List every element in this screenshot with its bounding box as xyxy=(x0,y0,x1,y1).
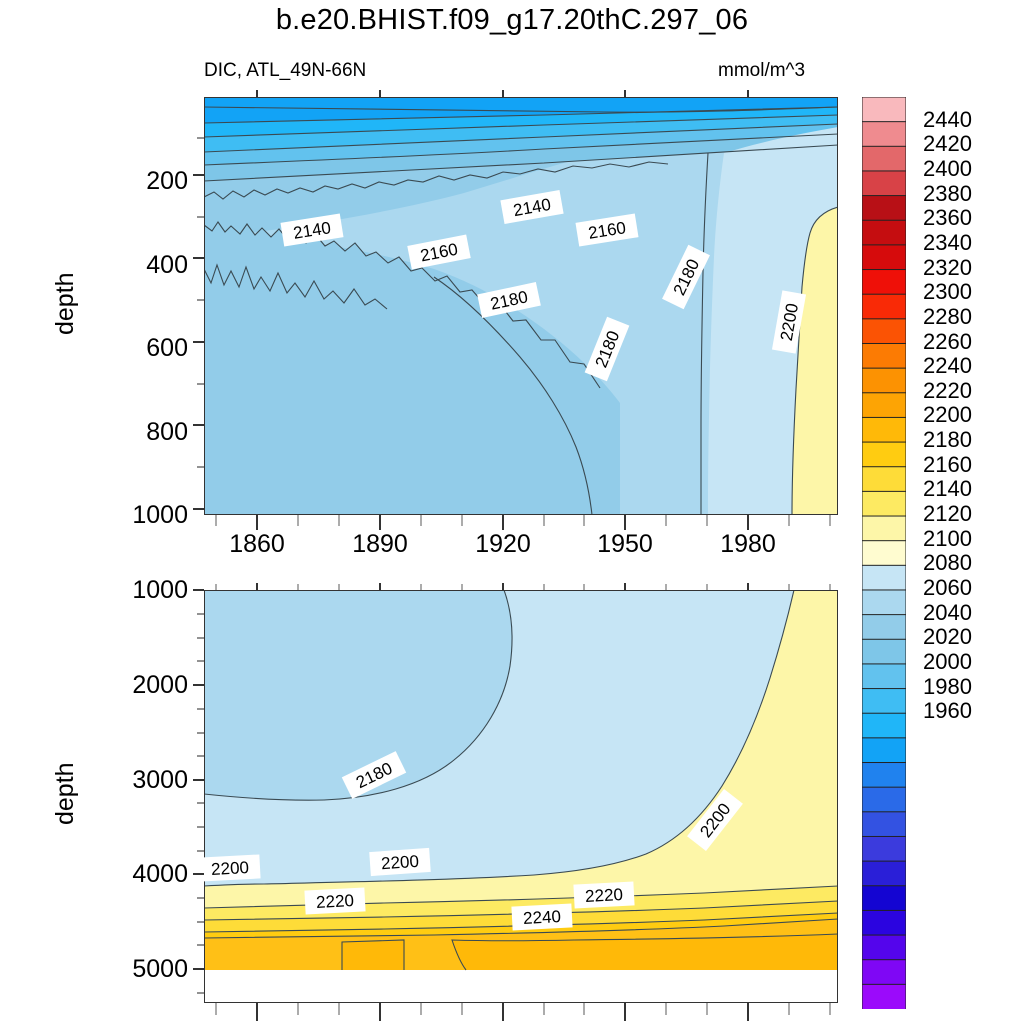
upper-xtick-1890: 1890 xyxy=(335,530,425,559)
colorbar-swatch[interactable] xyxy=(862,368,906,393)
colorbar-tick-2380: 2380 xyxy=(923,181,972,207)
colorbar-tick-2440: 2440 xyxy=(923,107,972,133)
colorbar-swatch[interactable] xyxy=(862,294,906,319)
colorbar-tick-2180: 2180 xyxy=(923,427,972,453)
colorbar-tick-2000: 2000 xyxy=(923,649,972,675)
colorbar-swatch[interactable] xyxy=(862,97,906,122)
colorbar-swatch[interactable] xyxy=(862,467,906,492)
upper-xtick-1950: 1950 xyxy=(580,530,670,559)
lower-ytick-4000: 4000 xyxy=(90,860,188,889)
colorbar-swatch[interactable] xyxy=(862,146,906,171)
colorbar-tick-2420: 2420 xyxy=(923,131,972,157)
colorbar-labels: 2440242024002380236023402320230022802260… xyxy=(915,97,1015,1009)
upper-xtick-1860: 1860 xyxy=(212,530,302,559)
colorbar-swatch[interactable] xyxy=(862,516,906,541)
upper-ytick-1000: 1000 xyxy=(90,501,188,530)
colorbar-tick-2360: 2360 xyxy=(923,205,972,231)
colorbar-swatch[interactable] xyxy=(862,836,906,861)
upper-ytick-400: 400 xyxy=(110,251,188,280)
upper-ytick-600: 600 xyxy=(110,334,188,363)
lower-panel-ticks xyxy=(180,583,860,1023)
colorbar-swatch[interactable] xyxy=(862,787,906,812)
lower-panel-ylabel: depth xyxy=(35,765,95,825)
colorbar-swatch[interactable] xyxy=(862,565,906,590)
colorbar-swatch[interactable] xyxy=(862,491,906,516)
colorbar-swatch[interactable] xyxy=(862,935,906,960)
colorbar-tick-1980: 1980 xyxy=(923,674,972,700)
colorbar-swatch[interactable] xyxy=(862,442,906,467)
colorbar-tick-1960: 1960 xyxy=(923,698,972,724)
colorbar-tick-2080: 2080 xyxy=(923,550,972,576)
colorbar-tick-2260: 2260 xyxy=(923,329,972,355)
colorbar-tick-2300: 2300 xyxy=(923,279,972,305)
upper-panel-ylabel: depth xyxy=(35,275,95,335)
lower-ytick-3000: 3000 xyxy=(90,766,188,795)
page-title: b.e20.BHIST.f09_g17.20thC.297_06 xyxy=(0,4,1024,37)
colorbar-swatch[interactable] xyxy=(862,590,906,615)
colorbar-swatch[interactable] xyxy=(862,393,906,418)
upper-ytick-200: 200 xyxy=(110,167,188,196)
colorbar-swatch[interactable] xyxy=(862,639,906,664)
colorbar-swatch[interactable] xyxy=(862,270,906,295)
colorbar-swatch[interactable] xyxy=(862,812,906,837)
colorbar[interactable] xyxy=(862,97,906,1009)
colorbar-swatch[interactable] xyxy=(862,343,906,368)
colorbar-tick-2340: 2340 xyxy=(923,230,972,256)
upper-ylabel-text: depth xyxy=(35,275,95,335)
colorbar-swatch[interactable] xyxy=(862,122,906,147)
colorbar-swatch[interactable] xyxy=(862,196,906,221)
colorbar-swatch[interactable] xyxy=(862,417,906,442)
colorbar-swatch[interactable] xyxy=(862,984,906,1009)
colorbar-swatch[interactable] xyxy=(862,910,906,935)
colorbar-swatch[interactable] xyxy=(862,319,906,344)
lower-ytick-1000: 1000 xyxy=(90,576,188,605)
colorbar-swatch[interactable] xyxy=(862,171,906,196)
upper-xtick-1920: 1920 xyxy=(458,530,548,559)
colorbar-tick-2140: 2140 xyxy=(923,476,972,502)
colorbar-tick-2240: 2240 xyxy=(923,353,972,379)
colorbar-swatch[interactable] xyxy=(862,713,906,738)
colorbar-tick-2280: 2280 xyxy=(923,304,972,330)
upper-panel-ticks xyxy=(180,90,860,530)
subtitle-units: mmol/m^3 xyxy=(718,60,805,82)
upper-xtick-1980: 1980 xyxy=(703,530,793,559)
colorbar-swatches[interactable] xyxy=(862,97,906,1009)
subtitle-variable: DIC, ATL_49N-66N xyxy=(204,60,366,82)
lower-ytick-2000: 2000 xyxy=(90,671,188,700)
colorbar-swatch[interactable] xyxy=(862,615,906,640)
colorbar-tick-2160: 2160 xyxy=(923,452,972,478)
colorbar-tick-2020: 2020 xyxy=(923,624,972,650)
lower-ytick-5000: 5000 xyxy=(90,955,188,984)
colorbar-swatch[interactable] xyxy=(862,738,906,763)
colorbar-tick-2100: 2100 xyxy=(923,526,972,552)
colorbar-swatch[interactable] xyxy=(862,960,906,985)
colorbar-swatch[interactable] xyxy=(862,541,906,566)
colorbar-swatch[interactable] xyxy=(862,689,906,714)
colorbar-tick-2040: 2040 xyxy=(923,600,972,626)
colorbar-tick-2060: 2060 xyxy=(923,575,972,601)
upper-ytick-800: 800 xyxy=(110,418,188,447)
colorbar-tick-2200: 2200 xyxy=(923,402,972,428)
colorbar-swatch[interactable] xyxy=(862,220,906,245)
lower-ylabel-text: depth xyxy=(35,765,95,825)
colorbar-swatch[interactable] xyxy=(862,886,906,911)
colorbar-swatch[interactable] xyxy=(862,861,906,886)
colorbar-tick-2400: 2400 xyxy=(923,156,972,182)
colorbar-tick-2120: 2120 xyxy=(923,501,972,527)
colorbar-tick-2220: 2220 xyxy=(923,378,972,404)
colorbar-swatch[interactable] xyxy=(862,245,906,270)
colorbar-swatch[interactable] xyxy=(862,664,906,689)
colorbar-tick-2320: 2320 xyxy=(923,255,972,281)
colorbar-swatch[interactable] xyxy=(862,763,906,788)
